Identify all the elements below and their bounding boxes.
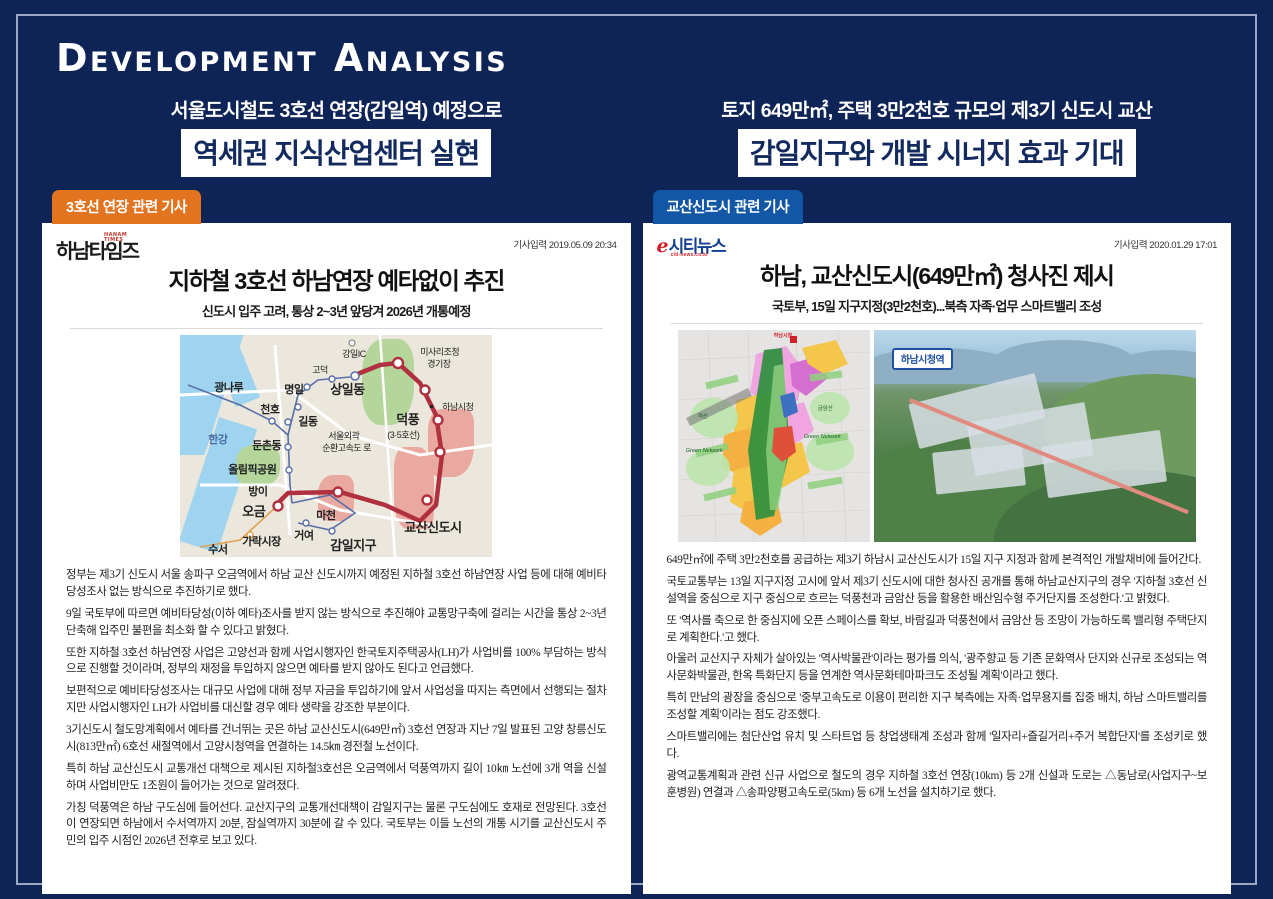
right-headline-block: 토지 649만㎡, 주택 3만2천호 규모의 제3기 신도시 교산 감일지구와 … xyxy=(643,94,1232,177)
left-article-badge[interactable]: 3호선 연장 관련 기사 xyxy=(52,190,201,224)
map-label-dunchon-dong: 둔촌동 xyxy=(252,437,281,453)
map-label-gamil-district: 감일지구 xyxy=(330,535,376,554)
hanam-times-logo: HANAM TIMES 하남타임즈 xyxy=(56,233,138,261)
map-label-geoyeo: 거여 xyxy=(294,527,313,543)
left-article-timestamp: 기사입력 2019.05.09 20:34 xyxy=(513,233,616,251)
map-label-godeok: 고덕 xyxy=(312,363,328,376)
left-headline-sub: 서울도시철도 3호선 연장(감일역) 예정으로 xyxy=(42,94,631,123)
map-label-garak-market: 가락시장 xyxy=(242,533,280,549)
right-badge-row: 교산신도시 관련 기사 xyxy=(643,189,1232,223)
map-label-line35: (3·5호선) xyxy=(387,428,419,441)
gyosan-landuse-plan-map: 하남시청 객산 금암산 Green Network Green Network xyxy=(678,330,870,542)
plan-label-mountain-1: 객산 xyxy=(698,412,708,420)
right-paragraph: 광역교통계획과 관련 신규 사업으로 철도의 경우 지하철 3호선 연장(10k… xyxy=(667,768,1208,802)
hanam-times-logo-small: HANAM TIMES xyxy=(104,233,138,243)
map-label-cheonho: 천호 xyxy=(260,401,279,417)
left-figure-area: 강일IC 미사리조정 경기장 고덕 상일동 하남시청 덕풍 (3·5호선) 명일… xyxy=(56,335,617,557)
map-label-gyosan-newtown: 교산신도시 xyxy=(404,517,461,536)
map-label-deokpung: 덕풍 xyxy=(396,409,419,428)
left-paragraph: 보편적으로 예비타당성조사는 대규모 사업에 대해 정부 자금을 투입하기에 앞… xyxy=(66,683,607,717)
left-badge-row: 3호선 연장 관련 기사 xyxy=(42,189,631,223)
right-article-card: e시티뉴스 citi-news.co.kr 기사입력 2020.01.29 17… xyxy=(643,223,1232,894)
map-label-suseo: 수서 xyxy=(208,541,227,557)
left-article-masthead: HANAM TIMES 하남타임즈 기사입력 2019.05.09 20:34 xyxy=(56,233,617,261)
right-headline-main: 감일지구와 개발 시너지 효과 기대 xyxy=(738,129,1136,177)
map-label-hanam-cityhall: 하남시청 xyxy=(442,400,473,413)
left-article-body: 정부는 제3기 신도시 서울 송파구 오금역에서 하남 교산 신도시까지 예정된… xyxy=(56,565,617,882)
right-paragraph: 특히 만남의 광장을 중심으로 '중부고속도로 이용이 편리한 지구 북측에는 … xyxy=(667,690,1208,724)
ecity-logo-e: e xyxy=(657,235,669,257)
left-article-subhead: 신도시 입주 고려, 통상 2~3년 앞당겨 2026년 개통예정 xyxy=(56,301,617,320)
map-label-ogeum: 오금 xyxy=(242,501,265,520)
right-article-headline: 하남, 교산신도시(649만㎡) 청사진 제시 xyxy=(657,257,1218,291)
right-paragraph: 국토교통부는 13일 지구지정 고시에 앞서 제3기 신도시에 대한 청사진 공… xyxy=(667,574,1208,608)
map-label-misari-2: 경기장 xyxy=(427,357,450,370)
plan-label-green-network-2: Green Network xyxy=(804,434,841,440)
plan-label-hanam-cityhall: 하남시청 xyxy=(774,332,792,339)
page-title: Development Analysis xyxy=(42,36,1231,80)
gyosan-figure-pair: 하남시청 객산 금암산 Green Network Green Network xyxy=(678,330,1196,542)
plan-label-green-network-1: Green Network xyxy=(686,448,723,454)
left-column: 서울도시철도 3호선 연장(감일역) 예정으로 역세권 지식산업센터 실현 3호… xyxy=(42,94,631,894)
map-label-macheon: 마천 xyxy=(316,507,335,523)
right-paragraph: 649만㎡에 주택 3만2천호를 공급하는 제3기 하남시 교산신도시가 15일… xyxy=(667,552,1208,569)
map-label-gangil-ic: 강일IC xyxy=(342,347,366,360)
aerial-label-hanam-cityhall-station: 하남시청역 xyxy=(892,348,954,370)
subway-line3-extension-map: 강일IC 미사리조정 경기장 고덕 상일동 하남시청 덕풍 (3·5호선) 명일… xyxy=(180,335,492,557)
left-article-divider xyxy=(70,328,603,329)
slide-frame: Development Analysis 서울도시철도 3호선 연장(감일역) … xyxy=(16,14,1257,885)
left-paragraph: 또한 지하철 3호선 하남연장 사업은 고양선과 함께 사업시행자인 한국토지주… xyxy=(66,645,607,679)
aerial-mountain-far-mid xyxy=(994,340,1134,382)
map-label-han-river: 한강 xyxy=(208,431,227,447)
left-article-headline: 지하철 3호선 하남연장 예타없이 추진 xyxy=(56,262,617,296)
right-article-masthead: e시티뉴스 citi-news.co.kr 기사입력 2020.01.29 17… xyxy=(657,233,1218,256)
map-label-seoul-outer-2: 순환고속도 로 xyxy=(322,441,371,454)
left-headline-main: 역세권 지식산업센터 실현 xyxy=(181,129,491,177)
map-label-olympic-park: 올림픽공원 xyxy=(228,461,276,477)
right-article-divider xyxy=(671,323,1204,324)
right-column: 토지 649만㎡, 주택 3만2천호 규모의 제3기 신도시 교산 감일지구와 … xyxy=(643,94,1232,894)
left-article-card: HANAM TIMES 하남타임즈 기사입력 2019.05.09 20:34 … xyxy=(42,223,631,894)
right-figure-area: 하남시청 객산 금암산 Green Network Green Network xyxy=(657,330,1218,542)
map-label-myeongil: 명일 xyxy=(284,381,303,397)
left-paragraph: 가칭 덕풍역은 하남 구도심에 들어선다. 교산지구의 교통개선대책이 감일지구… xyxy=(66,800,607,851)
map-label-gwangnaru: 광나루 xyxy=(214,379,243,395)
gyosan-aerial-rendering: 하남시청역 xyxy=(874,330,1196,542)
right-article-subhead: 국토부, 15일 지구지정(3만2천호)...북측 자족·업무 스마트밸리 조성 xyxy=(657,296,1218,315)
right-article-badge[interactable]: 교산신도시 관련 기사 xyxy=(653,190,804,224)
left-paragraph: 3기신도시 철도망계획에서 예타를 건너뛰는 곳은 하남 교산신도시(649만㎡… xyxy=(66,722,607,756)
ecity-logo-url: citi-news.co.kr xyxy=(671,253,709,258)
right-article-body: 649만㎡에 주택 3만2천호를 공급하는 제3기 하남시 교산신도시가 15일… xyxy=(657,550,1218,882)
plan-label-mountain-2: 금암산 xyxy=(818,404,833,412)
right-paragraph: 또 '역사를 축으로 한 중심지에 오픈 스페이스를 확보, 바람길과 덕풍천에… xyxy=(667,613,1208,647)
map-label-sangil-dong: 상일동 xyxy=(330,379,364,398)
ecity-news-logo: e시티뉴스 citi-news.co.kr xyxy=(657,233,726,256)
left-headline-block: 서울도시철도 3호선 연장(감일역) 예정으로 역세권 지식산업센터 실현 xyxy=(42,94,631,177)
right-paragraph: 스마트밸리에는 첨단산업 유치 및 스타트업 등 창업생태계 조성과 함께 '일… xyxy=(667,729,1208,763)
right-article-timestamp: 기사입력 2020.01.29 17:01 xyxy=(1114,233,1217,251)
left-paragraph: 특히 하남 교산신도시 교통개선 대책으로 제시된 지하철3호선은 오금역에서 … xyxy=(66,761,607,795)
map-label-bangi: 방이 xyxy=(248,483,267,499)
left-paragraph: 정부는 제3기 신도시 서울 송파구 오금역에서 하남 교산 신도시까지 예정된… xyxy=(66,567,607,601)
two-column-layout: 서울도시철도 3호선 연장(감일역) 예정으로 역세권 지식산업센터 실현 3호… xyxy=(42,94,1231,894)
right-headline-sub: 토지 649만㎡, 주택 3만2천호 규모의 제3기 신도시 교산 xyxy=(643,94,1232,123)
left-paragraph: 9일 국토부에 따르면 예비타당성(이하 예타)조사를 받지 않는 방식으로 추… xyxy=(66,606,607,640)
right-paragraph: 아울러 교산지구 자체가 살아있는 '역사박물관'이라는 평가를 의식, '광주… xyxy=(667,651,1208,685)
map-label-gildong: 길동 xyxy=(298,413,317,429)
